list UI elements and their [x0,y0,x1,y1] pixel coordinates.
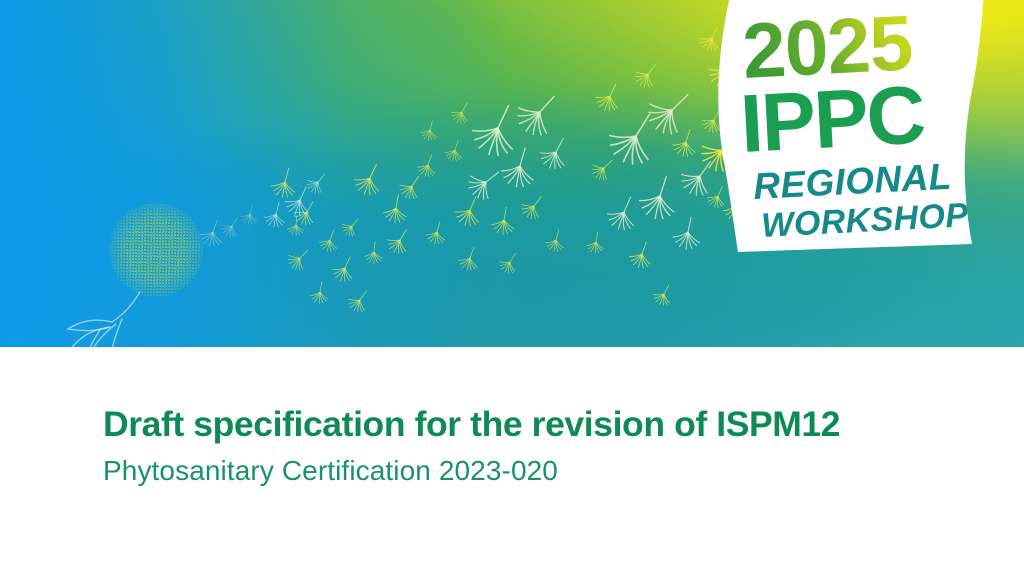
title-block: Draft specification for the revision of … [103,404,963,487]
ippc-regional-workshop-logo: 2025 IPPC REGIONAL WORKSHOP [700,0,1000,264]
page-subtitle: Phytosanitary Certification 2023-020 [103,454,963,488]
page-title: Draft specification for the revision of … [103,404,963,446]
hero-banner: 2025 IPPC REGIONAL WORKSHOP [0,0,1024,347]
logo-organization: IPPC [738,70,926,170]
dandelion-head [93,187,219,313]
presentation-slide: 2025 IPPC REGIONAL WORKSHOP Draft specif… [0,0,1024,576]
dandelion-stem [68,292,140,347]
